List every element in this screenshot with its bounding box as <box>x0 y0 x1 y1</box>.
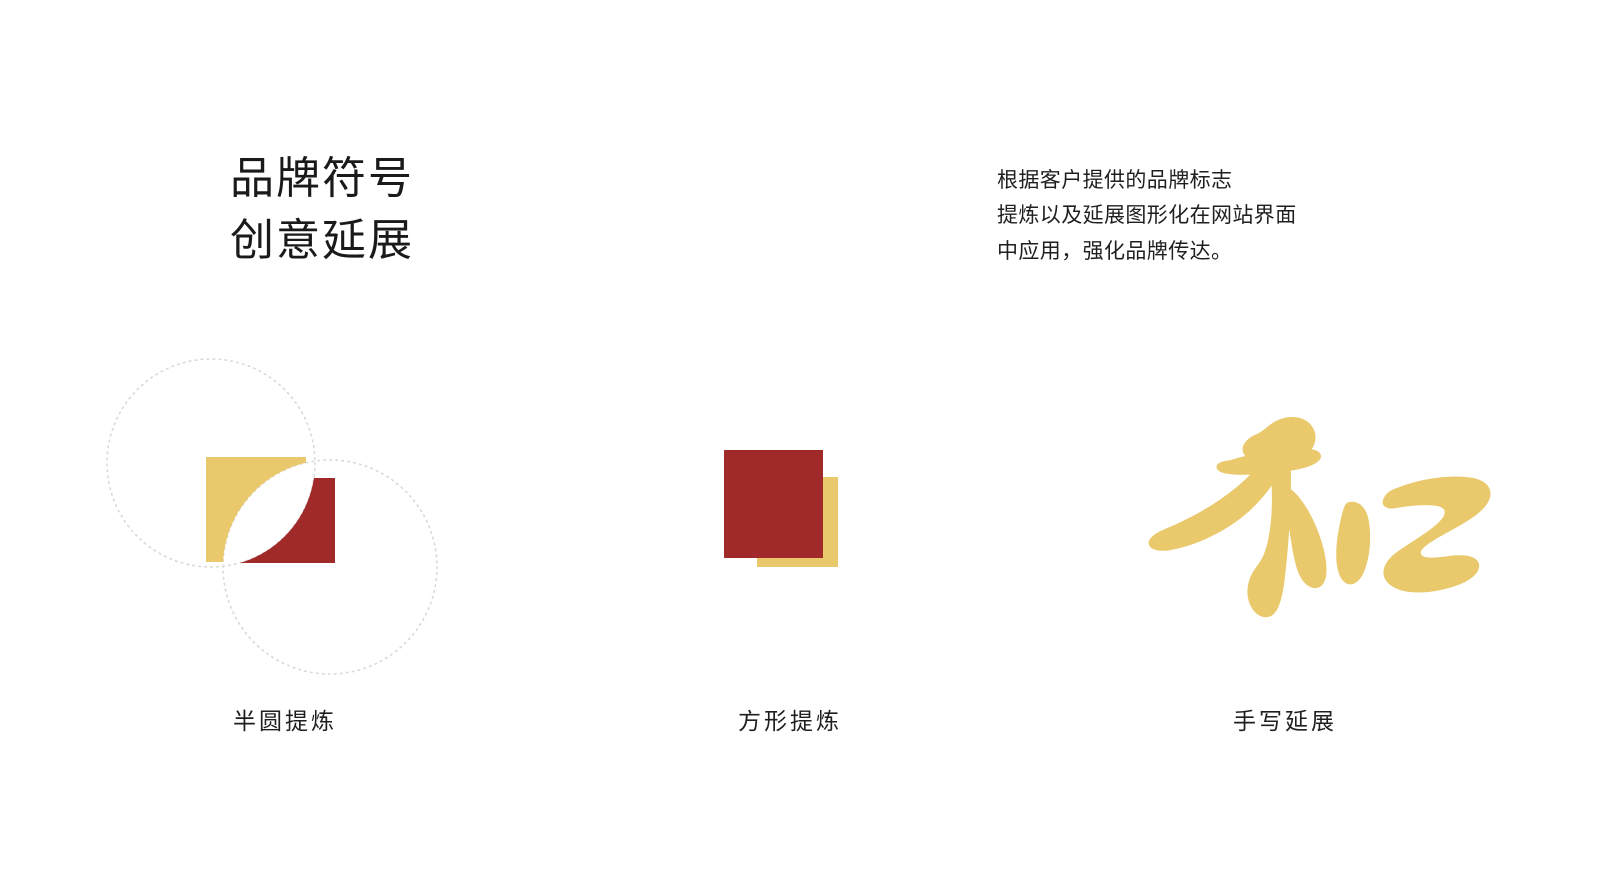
page-title: 品牌符号 创意延展 <box>230 148 414 273</box>
figure-caption-square: 方形提炼 <box>530 702 1050 736</box>
figure-square-extraction: 方形提炼 <box>530 330 1050 770</box>
page-description: 根据客户提供的品牌标志 提炼以及延展图形化在网站界面 中应用，强化品牌传达。 <box>997 163 1297 269</box>
figure-caption-handwriting: 手写延展 <box>1025 702 1545 736</box>
figure-calligraphy-graphic <box>1025 330 1545 690</box>
figure-semicircle-extraction: 半圆提炼 <box>25 330 545 770</box>
shape-red-square <box>724 450 823 558</box>
shape-red-square <box>234 478 335 563</box>
figure-square-graphic <box>530 330 1050 690</box>
calligraphy-he-glyph <box>1149 417 1491 617</box>
figure-caption-semicircle: 半圆提炼 <box>25 702 545 736</box>
figure-handwriting-extension: 手写延展 <box>1025 330 1545 770</box>
figure-row: 半圆提炼 方形提炼 <box>0 330 1600 770</box>
figure-semicircle-graphic <box>25 330 545 690</box>
